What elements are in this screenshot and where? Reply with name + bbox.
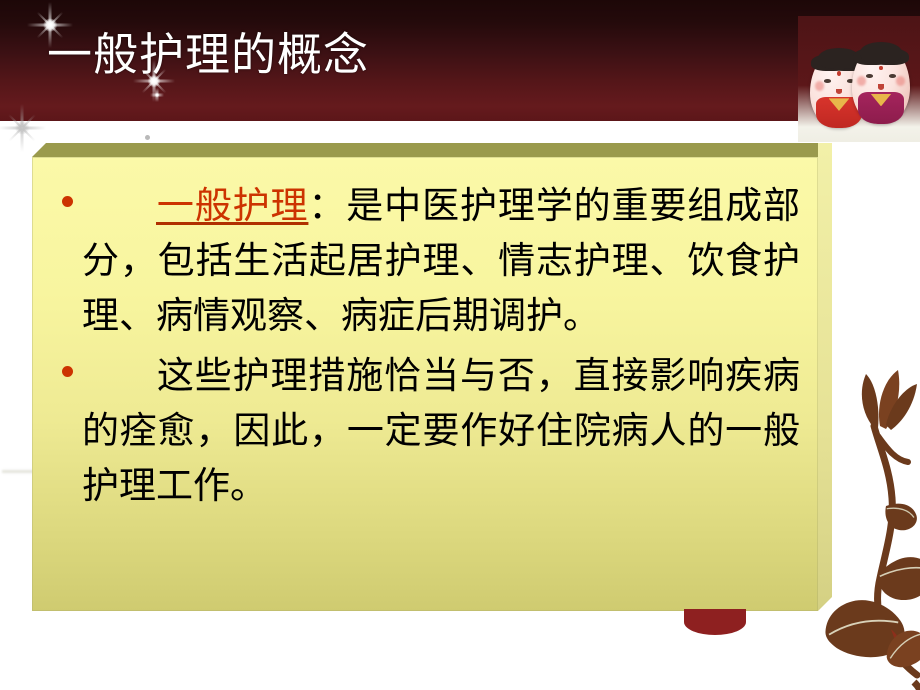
card-body: 一般护理：是中医护理学的重要组成部分，包括生活起居护理、情志护理、饮食护理、病情… <box>32 157 818 611</box>
paragraph-2-body: 这些护理措施恰当与否，直接影响疾病的痊愈，因此，一定要作好住院病人的一般护理工作… <box>82 356 800 507</box>
page-title: 一般护理的概念 <box>47 32 369 79</box>
paragraph-1-text: 一般护理：是中医护理学的重要组成部分，包括生活起居护理、情志护理、饮食护理、病情… <box>78 179 800 344</box>
slide-header-banner: 一般护理的概念 <box>0 0 920 121</box>
dot-artifact-icon <box>145 135 150 140</box>
content-card: 一般护理：是中医护理学的重要组成部分，包括生活起居护理、情志护理、饮食护理、病情… <box>32 143 832 611</box>
leafy-branch-icon <box>822 330 920 690</box>
keyword-general-nursing: 一般护理 <box>156 186 308 227</box>
semicircle-icon <box>684 609 746 635</box>
card-bevel-top <box>32 143 832 157</box>
paragraph-2-text: 这些护理措施恰当与否，直接影响疾病的痊愈，因此，一定要作好住院病人的一般护理工作… <box>78 349 800 514</box>
bullet-icon <box>62 366 78 377</box>
doll-right-icon <box>852 44 910 124</box>
card-bevel-right <box>818 143 832 611</box>
bullet-icon <box>62 196 78 207</box>
list-item: 一般护理：是中医护理学的重要组成部分，包括生活起居护理、情志护理、饮食护理、病情… <box>52 179 800 344</box>
clay-dolls-icon <box>798 16 920 142</box>
list-item: 这些护理措施恰当与否，直接影响疾病的痊愈，因此，一定要作好住院病人的一般护理工作… <box>52 349 800 514</box>
slide-canvas: 一般护理的概念 <box>0 0 920 690</box>
sparkle-icon <box>150 88 164 102</box>
